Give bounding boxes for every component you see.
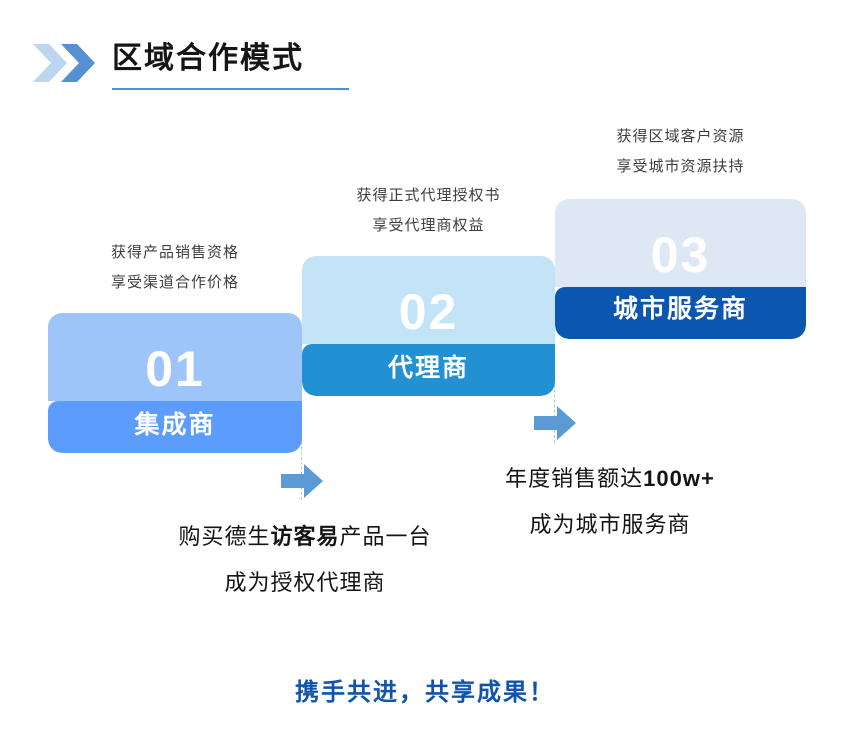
step-card-2-label: 代理商 (302, 353, 555, 383)
benefit-line: 享受代理商权益 (302, 211, 555, 241)
step-card-2-number: 02 (302, 284, 555, 340)
step-1-benefits: 获得产品销售资格 享受渠道合作价格 (48, 238, 302, 298)
requirement-prefix: 购买德生 (178, 524, 270, 549)
step-card-1-label: 集成商 (48, 410, 302, 440)
partner-tier-diagram: 获得产品销售资格 享受渠道合作价格 获得正式代理授权书 享受代理商权益 获得区域… (0, 0, 850, 737)
benefit-line: 获得正式代理授权书 (302, 181, 555, 211)
step-card-1[interactable]: 01 集成商 (48, 313, 302, 453)
requirement-highlight: 访客易 (270, 524, 339, 549)
benefit-line: 获得区域客户资源 (555, 122, 806, 152)
benefit-line: 获得产品销售资格 (48, 238, 302, 268)
step-card-2[interactable]: 02 代理商 (302, 256, 555, 396)
step-card-1-number: 01 (48, 341, 302, 397)
benefit-line: 享受城市资源扶持 (555, 152, 806, 182)
requirement-prefix: 年度销售额达 (505, 466, 643, 491)
requirement-line-2: 成为授权代理商 (135, 560, 475, 606)
step-3-benefits: 获得区域客户资源 享受城市资源扶持 (555, 122, 806, 182)
step-2-benefits: 获得正式代理授权书 享受代理商权益 (302, 181, 555, 241)
requirement-highlight: 100w+ (643, 466, 715, 491)
requirement-line-1: 购买德生访客易产品一台 (135, 514, 475, 560)
step-1-requirement: 购买德生访客易产品一台 成为授权代理商 (135, 514, 475, 606)
arrow-right-icon (534, 406, 576, 440)
step-card-3-number: 03 (555, 227, 806, 283)
step-2-requirement: 年度销售额达100w+ 成为城市服务商 (440, 456, 780, 548)
arrow-right-icon (281, 464, 323, 498)
requirement-line-2: 成为城市服务商 (440, 502, 780, 548)
step-card-3-label: 城市服务商 (555, 294, 806, 324)
benefit-line: 享受渠道合作价格 (48, 268, 302, 298)
footer-slogan: 携手共进，共享成果！ (0, 672, 850, 707)
step-card-3[interactable]: 03 城市服务商 (555, 199, 806, 339)
requirement-line-1: 年度销售额达100w+ (440, 456, 780, 502)
requirement-suffix: 产品一台 (340, 524, 432, 549)
